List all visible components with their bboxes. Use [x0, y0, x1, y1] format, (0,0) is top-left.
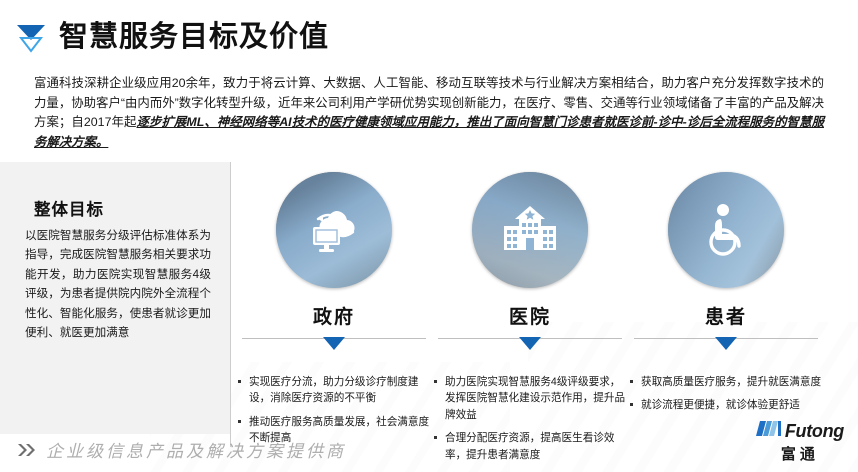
list-item: 实现医疗分流，助力分级诊疗制度建设，消除医疗资源的不平衡 [236, 374, 432, 407]
circle-badge-hospital [472, 172, 588, 288]
column-government: 政府 实现医疗分流，助力分级诊疗制度建设，消除医疗资源的不平衡 推动医疗服务高质… [236, 172, 432, 463]
circle-badge-government [276, 172, 392, 288]
circle-badge-patient [668, 172, 784, 288]
footer-tagline: 企业级信息产品及解决方案提供商 [18, 437, 346, 462]
cloud-computing-icon [276, 172, 392, 288]
intro-text-emphasis: 逐步扩展ML、神经网络等AI技术的医疗健康领域应用能力，推出了面向智慧门诊患者就… [34, 115, 824, 149]
logo-stripes-icon [756, 420, 782, 442]
column-patient: 患者 获取高质量医疗服务，提升就医满意度 就诊流程更便捷，就诊体验更舒适 [628, 172, 824, 430]
circle-wrap-government [236, 172, 432, 288]
heading-rule-patient [628, 337, 824, 350]
heading-rule-hospital [432, 337, 628, 350]
double-chevron-right-icon [18, 443, 38, 457]
chevron-down-icon [323, 337, 345, 355]
column-heading-hospital: 医院 [432, 302, 628, 329]
intro-paragraph: 富通科技深耕企业级应用20余年，致力于将云计算、大数据、人工智能、移动互联等技术… [34, 74, 824, 152]
futong-logo: Futong 富通 [756, 420, 844, 464]
hospital-building-icon [472, 172, 588, 288]
slide-header: 智慧服务目标及价值 [14, 20, 329, 54]
logo-top-row: Futong [756, 420, 844, 442]
list-item: 就诊流程更便捷，就诊体验更舒适 [628, 397, 824, 413]
wheelchair-patient-icon [668, 172, 784, 288]
panel-body-text: 以医院智慧服务分级评估标准体系为指导，完成医院智慧服务相关要求功能开发，助力医院… [25, 226, 211, 342]
list-item: 获取高质量医疗服务，提升就医满意度 [628, 374, 824, 390]
logo-chinese-name: 富通 [781, 443, 819, 464]
bullet-list-patient: 获取高质量医疗服务，提升就医满意度 就诊流程更便捷，就诊体验更舒适 [628, 374, 824, 414]
column-heading-patient: 患者 [628, 302, 824, 329]
chevron-down-icon [715, 337, 737, 355]
logo-wordmark: Futong [785, 421, 844, 442]
list-item: 合理分配医疗资源，提高医生看诊效率，提升患者满意度 [432, 430, 628, 463]
circle-wrap-hospital [432, 172, 628, 288]
slide-canvas: 智慧服务目标及价值 富通科技深耕企业级应用20余年，致力于将云计算、大数据、人工… [0, 0, 858, 472]
circle-wrap-patient [628, 172, 824, 288]
bullet-list-hospital: 助力医院实现智慧服务4级评级要求，发挥医院智慧化建设示范作用，提升品牌效益 合理… [432, 374, 628, 463]
tagline-text: 企业级信息产品及解决方案提供商 [46, 437, 346, 462]
chevron-down-icon [519, 337, 541, 355]
column-heading-government: 政府 [236, 302, 432, 329]
bullet-list-government: 实现医疗分流，助力分级诊疗制度建设，消除医疗资源的不平衡 推动医疗服务高质量发展… [236, 374, 432, 447]
panel-divider [230, 162, 231, 447]
page-title: 智慧服务目标及价值 [59, 23, 329, 52]
list-item: 助力医院实现智慧服务4级评级要求，发挥医院智慧化建设示范作用，提升品牌效益 [432, 374, 628, 423]
heading-rule-government [236, 337, 432, 350]
column-hospital: 医院 助力医院实现智慧服务4级评级要求，发挥医院智慧化建设示范作用，提升品牌效益… [432, 172, 628, 472]
panel-title: 整体目标 [34, 196, 104, 220]
double-triangle-icon [14, 20, 48, 54]
